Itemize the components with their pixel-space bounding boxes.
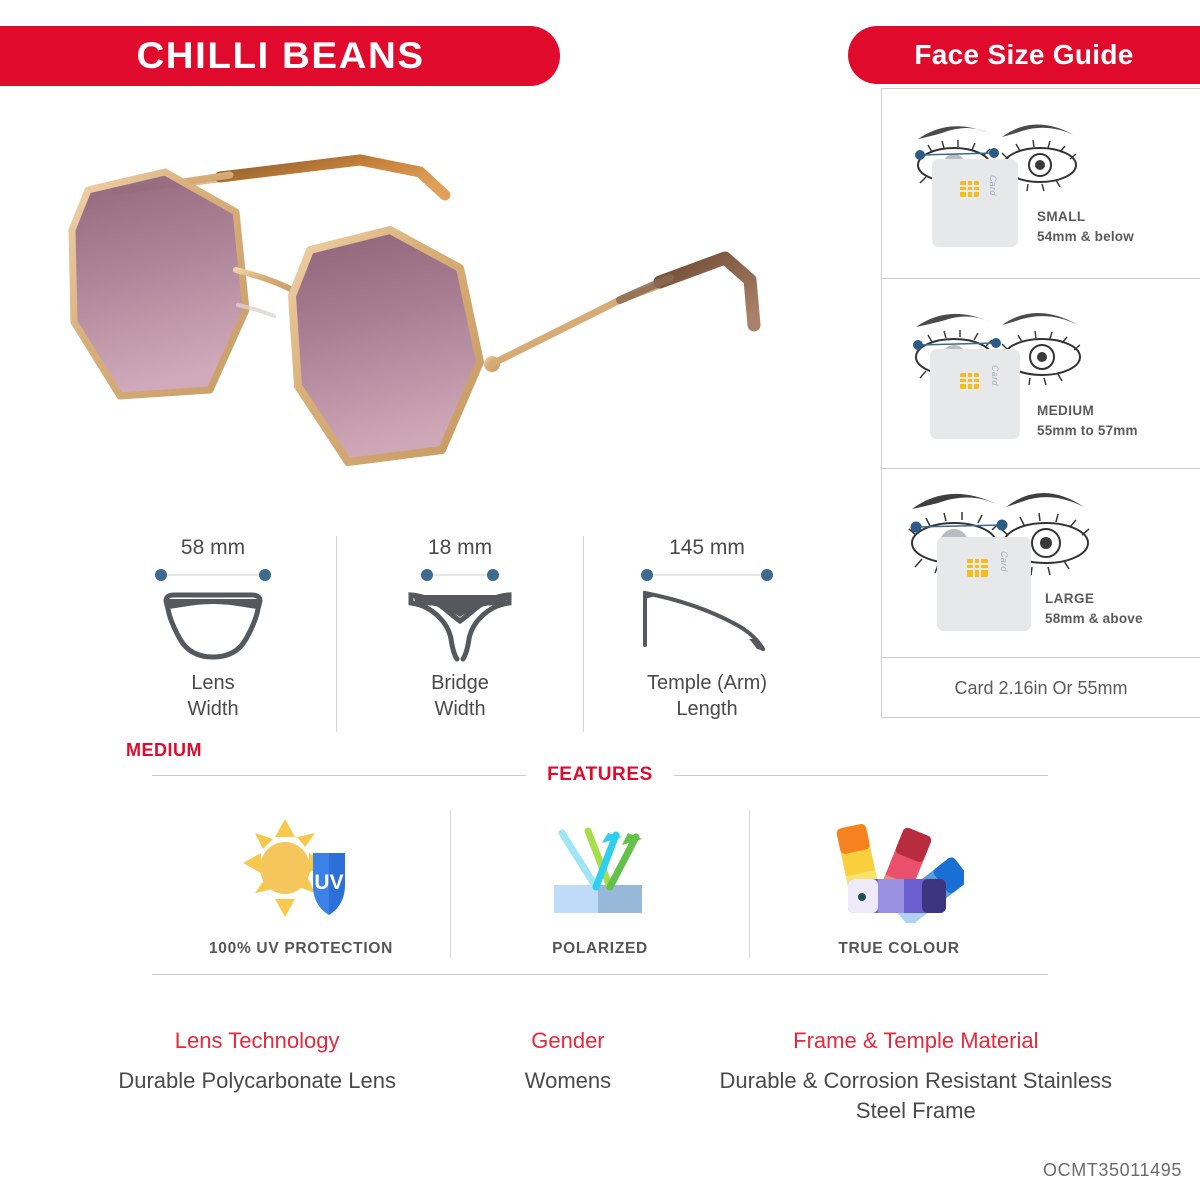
card-chip-icon bbox=[967, 559, 988, 577]
lens-width-value: 58 mm bbox=[181, 536, 245, 560]
heading-rule-left bbox=[152, 775, 526, 776]
face-size-label-small: SMALL bbox=[1037, 209, 1086, 224]
lens-frame-icon bbox=[158, 586, 268, 664]
lens-width-marker bbox=[155, 568, 271, 582]
spec-value-gender: Womens bbox=[442, 1066, 693, 1096]
marker-dot-right bbox=[259, 569, 271, 581]
spec-value-frame-material: Durable & Corrosion Resistant Stainless … bbox=[710, 1066, 1122, 1125]
features-section: FEATURES bbox=[152, 762, 1048, 975]
measurement-bridge-width: 18 mm Bridge Width bbox=[336, 536, 583, 732]
colour-swatch-fan-icon bbox=[834, 810, 964, 926]
marker-line bbox=[161, 574, 265, 576]
marker-dot-right bbox=[487, 569, 499, 581]
svg-text:UV: UV bbox=[314, 871, 343, 894]
card-size-note-text: Card 2.16in Or 55mm bbox=[954, 678, 1127, 699]
card-label: Card bbox=[988, 175, 998, 196]
face-size-range-large: 58mm & above bbox=[1045, 611, 1143, 626]
face-size-range-small: 54mm & below bbox=[1037, 229, 1134, 244]
spec-title-lens-technology: Lens Technology bbox=[88, 1028, 426, 1054]
lens-width-label-line1: Lens bbox=[191, 672, 234, 694]
credit-card-graphic: Card bbox=[937, 537, 1031, 631]
features-heading: FEATURES bbox=[152, 762, 1048, 788]
spec-frame-material: Frame & Temple Material Durable & Corros… bbox=[702, 1028, 1130, 1125]
card-chip-icon bbox=[960, 181, 979, 197]
card-chip-icon bbox=[960, 373, 979, 389]
feature-true-colour: TRUE COLOUR bbox=[749, 810, 1048, 958]
face-size-guide-banner: Face Size Guide bbox=[848, 26, 1200, 84]
brand-banner: CHILLI BEANS bbox=[0, 26, 560, 86]
face-size-guide-title: Face Size Guide bbox=[914, 39, 1133, 71]
product-spec-sheet: CHILLI BEANS Face Size Guide bbox=[0, 0, 1200, 1200]
heading-rule-right bbox=[674, 775, 1048, 776]
temple-length-marker bbox=[641, 568, 773, 582]
credit-card-graphic: Card bbox=[932, 159, 1018, 247]
product-sku: OCMT35011495 bbox=[1043, 1160, 1182, 1181]
spec-title-gender: Gender bbox=[442, 1028, 693, 1054]
face-size-row-medium: Card MEDIUM 55mm to 57mm bbox=[882, 279, 1200, 469]
card-label: Card bbox=[990, 365, 1000, 386]
feature-label-uv: 100% UV PROTECTION bbox=[209, 940, 393, 958]
credit-card-graphic: Card bbox=[930, 349, 1020, 439]
bridge-width-label-line2: Width bbox=[434, 698, 485, 720]
marker-dot-left bbox=[641, 569, 653, 581]
feature-label-polarized: POLARIZED bbox=[552, 940, 648, 958]
temple-length-label-line1: Temple (Arm) bbox=[647, 672, 767, 694]
card-label: Card bbox=[999, 551, 1009, 572]
feature-polarized: POLARIZED bbox=[450, 810, 749, 958]
temple-length-label-line2: Length bbox=[676, 698, 737, 720]
specifications-row: Lens Technology Durable Polycarbonate Le… bbox=[80, 1028, 1130, 1125]
marker-dot-right bbox=[761, 569, 773, 581]
polarized-light-icon bbox=[540, 810, 660, 926]
brand-name: CHILLI BEANS bbox=[136, 35, 424, 77]
card-size-note: Card 2.16in Or 55mm bbox=[882, 658, 1200, 718]
spec-gender: Gender Womens bbox=[434, 1028, 701, 1125]
feature-uv-protection: UV 100% UV PROTECTION bbox=[152, 810, 450, 958]
face-size-row-small: Card SMALL 54mm & below bbox=[882, 89, 1200, 279]
frame-size-tag: MEDIUM bbox=[126, 740, 202, 761]
temple-length-value: 145 mm bbox=[669, 536, 745, 560]
bridge-width-marker bbox=[421, 568, 499, 582]
measurement-temple-length: 145 mm Temple (Arm) Length bbox=[583, 536, 830, 732]
sun-uv-shield-icon: UV bbox=[241, 810, 361, 926]
lens-width-label-line2: Width bbox=[187, 698, 238, 720]
features-heading-text: FEATURES bbox=[533, 764, 667, 786]
product-image-sunglasses bbox=[60, 150, 780, 510]
bridge-icon bbox=[405, 586, 515, 664]
face-size-guide-panel: Card SMALL 54mm & below bbox=[881, 88, 1200, 718]
bridge-width-label-line1: Bridge bbox=[431, 672, 489, 694]
face-size-label-medium: MEDIUM bbox=[1037, 403, 1094, 418]
measurement-lens-width: 58 mm Lens Width bbox=[90, 536, 336, 732]
spec-lens-technology: Lens Technology Durable Polycarbonate Le… bbox=[80, 1028, 434, 1125]
bridge-width-value: 18 mm bbox=[428, 536, 492, 560]
face-size-row-large: Card LARGE 58mm & above bbox=[882, 469, 1200, 658]
marker-dot-left bbox=[421, 569, 433, 581]
temple-arm-icon bbox=[637, 586, 777, 664]
face-size-range-medium: 55mm to 57mm bbox=[1037, 423, 1138, 438]
marker-line bbox=[647, 574, 767, 576]
face-size-label-large: LARGE bbox=[1045, 591, 1094, 606]
marker-dot-left bbox=[155, 569, 167, 581]
spec-value-lens-technology: Durable Polycarbonate Lens bbox=[88, 1066, 426, 1096]
measurements-row: 58 mm Lens Width 18 mm bbox=[90, 536, 830, 732]
sunglasses-illustration bbox=[60, 150, 780, 510]
features-row: UV 100% UV PROTECTION bbox=[152, 810, 1048, 975]
marker-line bbox=[427, 574, 493, 576]
spec-title-frame-material: Frame & Temple Material bbox=[710, 1028, 1122, 1054]
feature-label-true-colour: TRUE COLOUR bbox=[838, 940, 959, 958]
